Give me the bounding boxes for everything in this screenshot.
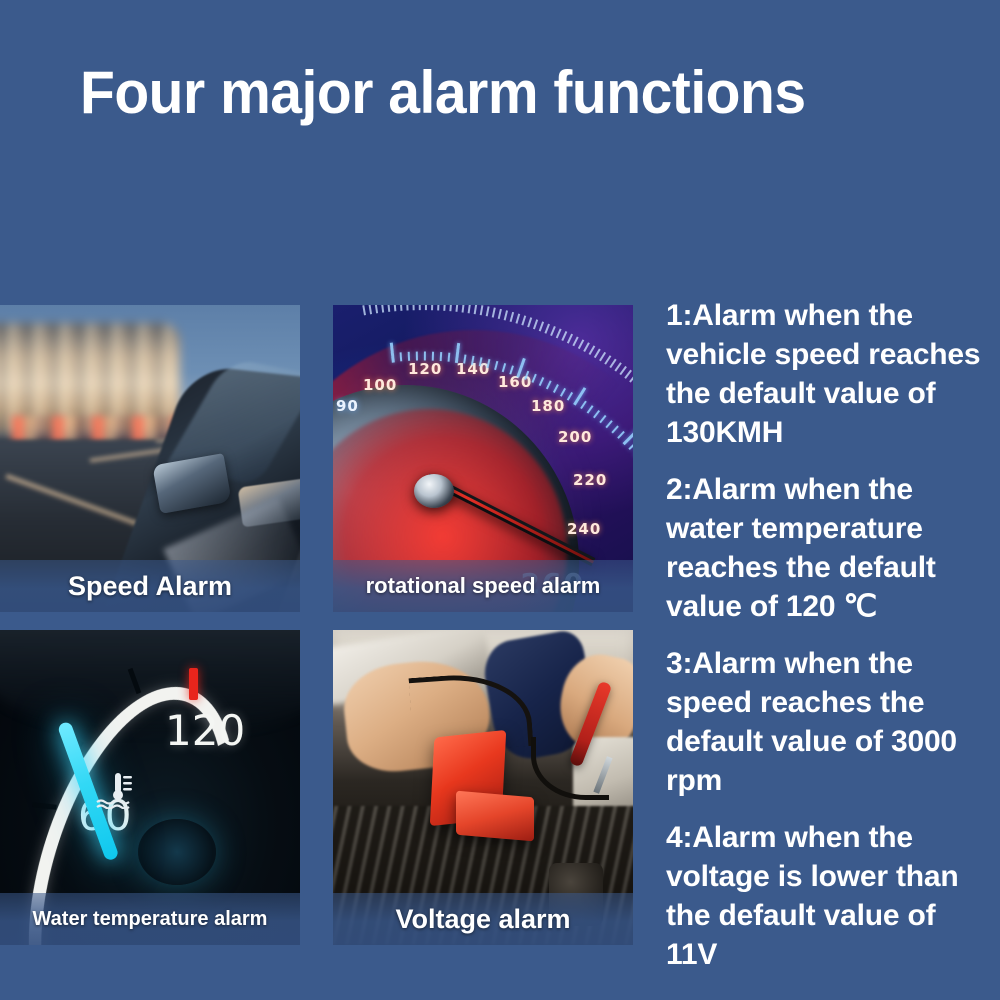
speedometer-fine-tick	[515, 313, 520, 323]
speedometer-fine-tick	[527, 317, 532, 327]
speedometer-tick	[580, 400, 587, 409]
speedometer-tick	[605, 420, 612, 428]
speedometer-fine-tick	[609, 358, 616, 367]
speedometer-label-90: 90	[336, 397, 359, 415]
alarm-description-list: 1:Alarm when the vehicle speed reaches t…	[666, 296, 994, 974]
speedometer-fine-tick	[572, 336, 578, 346]
temperature-label-120: 120	[165, 706, 245, 755]
alarm-item-3: 3:Alarm when the speed reaches the defau…	[666, 644, 994, 800]
speedometer-fine-tick	[589, 345, 596, 355]
speedometer-fine-tick	[375, 305, 378, 313]
speedometer-tick	[553, 384, 559, 393]
speedometer-fine-tick	[400, 305, 403, 311]
temperature-redline-tick	[189, 668, 198, 700]
speedometer-fine-tick	[556, 328, 562, 338]
speedometer-fine-tick	[599, 352, 606, 362]
speedometer-fine-tick	[369, 305, 373, 314]
speedometer-fine-tick	[492, 307, 496, 317]
speedometer-fine-tick	[550, 326, 556, 336]
speedometer-tick	[494, 361, 498, 370]
speedometer-fine-tick	[419, 305, 421, 310]
tile-caption-rotational-speed-alarm: rotational speed alarm	[333, 560, 633, 612]
speedometer-fine-tick	[387, 305, 390, 312]
speedometer-label-200: 200	[558, 428, 592, 446]
speedometer-fine-tick	[443, 305, 446, 311]
speedometer-fine-tick	[544, 323, 550, 333]
speedometer-tick	[539, 377, 545, 386]
speedometer-hub-cap	[414, 474, 454, 508]
speedometer-fine-tick	[394, 305, 397, 311]
alarm-item-4: 4:Alarm when the voltage is lower than t…	[666, 818, 994, 974]
speedometer-tick	[593, 410, 600, 418]
speedometer-fine-tick	[412, 305, 414, 310]
speedometer-fine-tick	[437, 305, 439, 310]
tile-caption-voltage-alarm: Voltage alarm	[333, 893, 633, 945]
speedometer-fine-tick	[449, 305, 452, 311]
speedometer-fine-tick	[486, 306, 490, 316]
speedometer-tick	[390, 342, 395, 362]
speedometer-fine-tick	[480, 305, 484, 315]
speedometer-tick	[587, 405, 594, 413]
alarm-image-grid: Speed Alarm 90100120140160180200220240 2…	[0, 305, 633, 945]
speedometer-tick	[617, 431, 625, 439]
speedometer-tick	[424, 351, 426, 360]
speedometer-fine-tick	[533, 319, 538, 329]
speedometer-fine-tick	[474, 305, 478, 314]
coolant-thermometer-icon	[93, 769, 147, 809]
alarm-item-2: 2:Alarm when the water temperature reach…	[666, 470, 994, 626]
speedometer-fine-tick	[406, 305, 408, 310]
speedometer-fine-tick	[425, 305, 427, 310]
speedometer-fine-tick	[381, 305, 384, 312]
tile-voltage-alarm[interactable]: Voltage alarm	[333, 630, 633, 945]
speedometer-fine-tick	[561, 331, 567, 341]
speedometer-tick	[448, 352, 451, 361]
speedometer-fine-tick	[594, 348, 601, 358]
speedometer-tick	[546, 380, 552, 389]
speedometer-fine-tick	[498, 309, 502, 319]
speedometer-label-180: 180	[531, 397, 565, 415]
speedometer-tick	[416, 351, 418, 360]
speedometer-tick	[408, 351, 410, 360]
speedometer-fine-tick	[578, 339, 584, 349]
speedometer-tick	[502, 363, 506, 372]
tile-speed-alarm[interactable]: Speed Alarm	[0, 305, 300, 612]
speedometer-fine-tick	[468, 305, 471, 313]
speedometer-tick	[611, 425, 618, 433]
alarm-item-1: 1:Alarm when the vehicle speed reaches t…	[666, 296, 994, 452]
speedometer-tick	[567, 392, 573, 401]
speedometer-fine-tick	[539, 321, 544, 331]
speedometer-fine-tick	[629, 373, 633, 382]
speedometer-label-120: 120	[408, 360, 442, 378]
speedometer-tick	[628, 442, 633, 450]
speedometer-fine-tick	[583, 342, 590, 352]
speedometer-fine-tick	[455, 305, 458, 312]
tile-caption-water-temperature-alarm: Water temperature alarm	[0, 893, 300, 945]
speedometer-label-240: 240	[567, 520, 601, 538]
speedometer-fine-tick	[504, 310, 508, 320]
speedometer-fine-tick	[431, 305, 433, 310]
speedometer-label-100: 100	[363, 376, 397, 394]
page-title: Four major alarm functions	[80, 58, 806, 127]
speedometer-fine-tick	[604, 355, 611, 364]
speedometer-fine-tick	[521, 315, 526, 325]
speedometer-fine-tick	[510, 312, 515, 322]
speedometer-fine-tick	[567, 333, 573, 343]
speedometer-tick	[400, 352, 403, 361]
speedometer-tick	[599, 415, 606, 423]
tile-caption-speed-alarm: Speed Alarm	[0, 560, 300, 612]
speedometer-fine-tick	[462, 305, 465, 312]
speedometer-fine-tick	[362, 305, 366, 315]
tile-water-temperature-alarm[interactable]: 120 60 Water temperature alarm	[0, 630, 300, 945]
speedometer-tick	[432, 351, 434, 360]
tile-rotational-speed-alarm[interactable]: 90100120140160180200220240 260 rotationa…	[333, 305, 633, 612]
speedometer-tick	[560, 388, 566, 397]
speedometer-label-220: 220	[573, 471, 607, 489]
